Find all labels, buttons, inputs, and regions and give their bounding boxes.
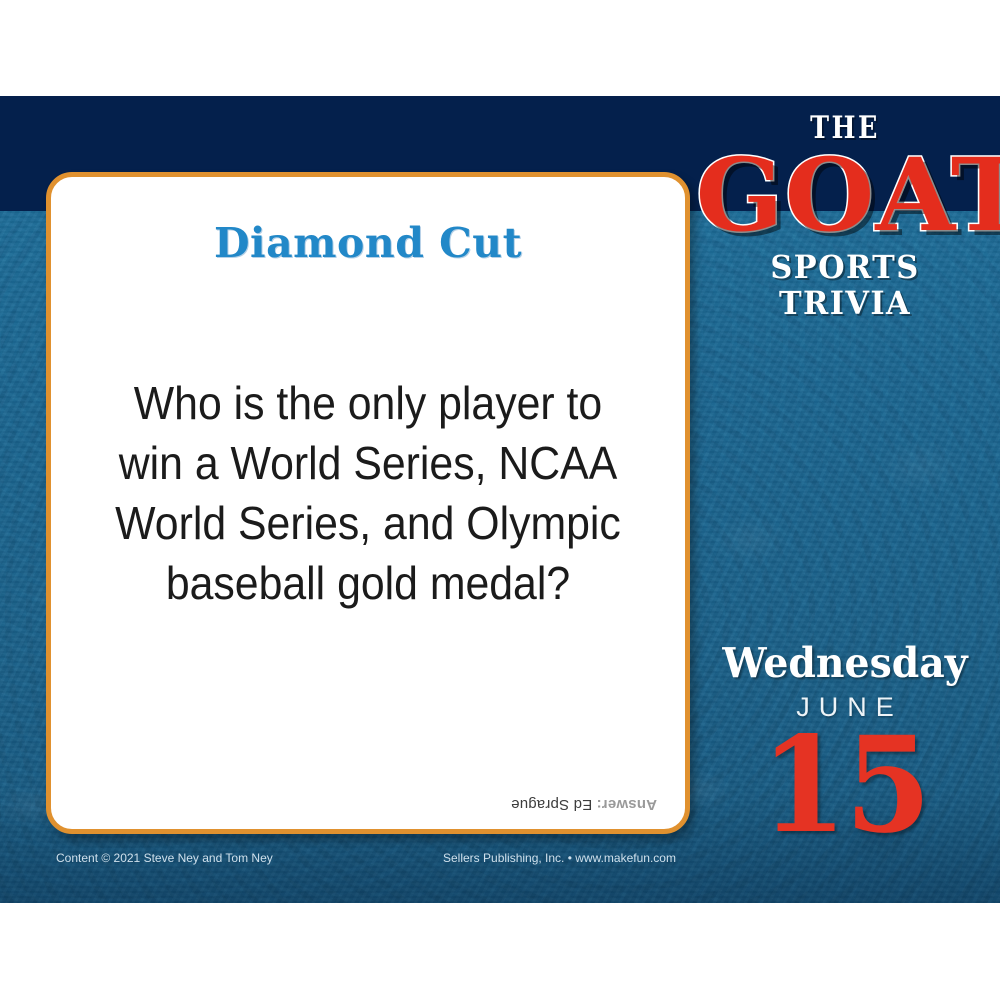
footer-copyright: Content © 2021 Steve Ney and Tom Ney [56,851,273,865]
trivia-card: Diamond Cut Who is the only player to wi… [46,172,690,834]
masthead: THE GOAT SPORTS TRIVIA [700,112,990,321]
card-title: Diamond Cut [51,219,685,267]
masthead-goat-logo: GOAT [696,147,995,243]
calendar-page: Diamond Cut Who is the only player to wi… [0,0,1000,1000]
date-block: Wednesday JUNE 15 [700,640,990,845]
footer-publisher: Sellers Publishing, Inc. • www.makefun.c… [443,851,676,865]
date-day-number: 15 [709,727,982,845]
answer-label: Answer: [596,796,657,813]
masthead-tagline: SPORTS TRIVIA [707,249,983,321]
date-weekday: Wednesday [706,640,984,686]
trivia-question: Who is the only player to win a World Se… [107,373,630,613]
answer-row: Answer: Ed Sprague [511,796,657,813]
answer-value: Ed Sprague [511,796,592,813]
